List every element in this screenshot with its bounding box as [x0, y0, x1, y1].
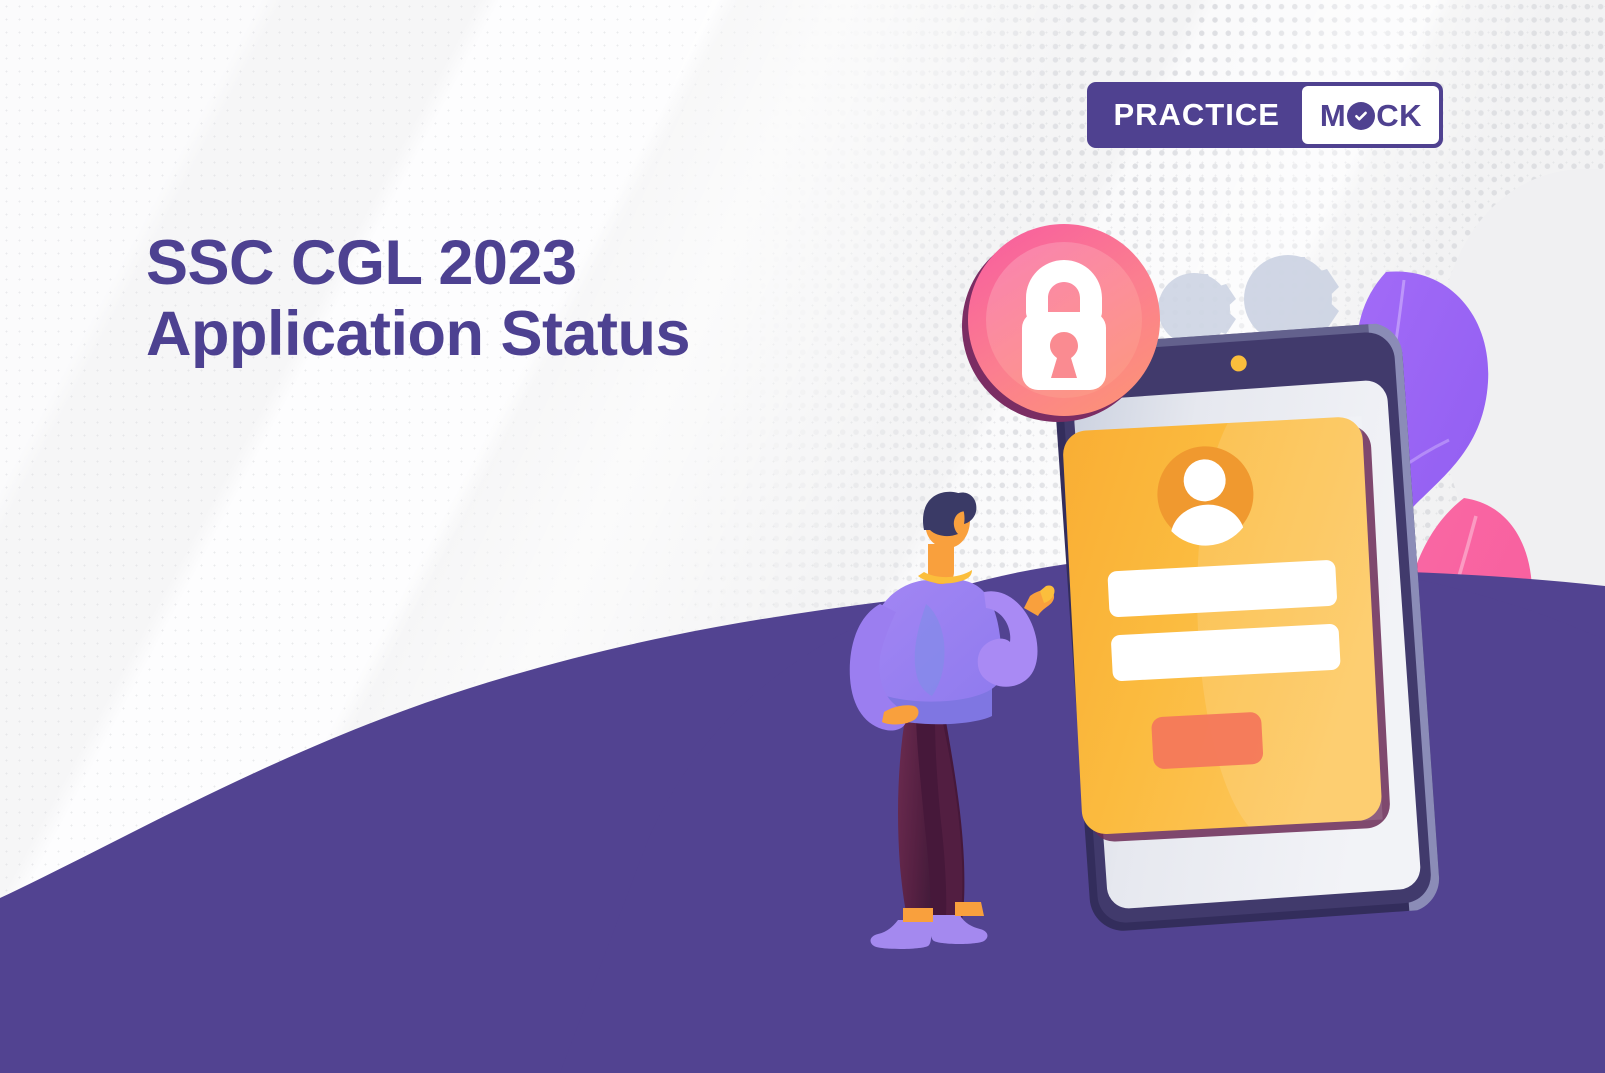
page-title-line-1: SSC CGL 2023 [146, 228, 906, 299]
brand-logo[interactable]: PRACTICE M CK [1087, 82, 1443, 148]
illustration-layer [0, 0, 1605, 1073]
brand-logo-mock: M CK [1302, 86, 1439, 144]
page-title: SSC CGL 2023 Application Status [146, 228, 906, 369]
brand-logo-practice: PRACTICE [1087, 82, 1301, 148]
brand-logo-mock-m: M [1320, 100, 1346, 131]
login-submit-button [1151, 712, 1264, 770]
padlock-keyhole [1050, 332, 1078, 378]
padlock-icon [1022, 260, 1106, 390]
banner-canvas: SSC CGL 2023 Application Status PRACTICE… [0, 0, 1605, 1073]
gear-icon-small [1158, 273, 1236, 345]
check-circle-icon [1347, 102, 1375, 130]
page-title-line-2: Application Status [146, 299, 906, 370]
brand-logo-mock-ck: CK [1376, 100, 1422, 131]
login-card [1062, 416, 1391, 844]
person-sock-left [903, 908, 933, 922]
person-sock-right [955, 902, 984, 916]
